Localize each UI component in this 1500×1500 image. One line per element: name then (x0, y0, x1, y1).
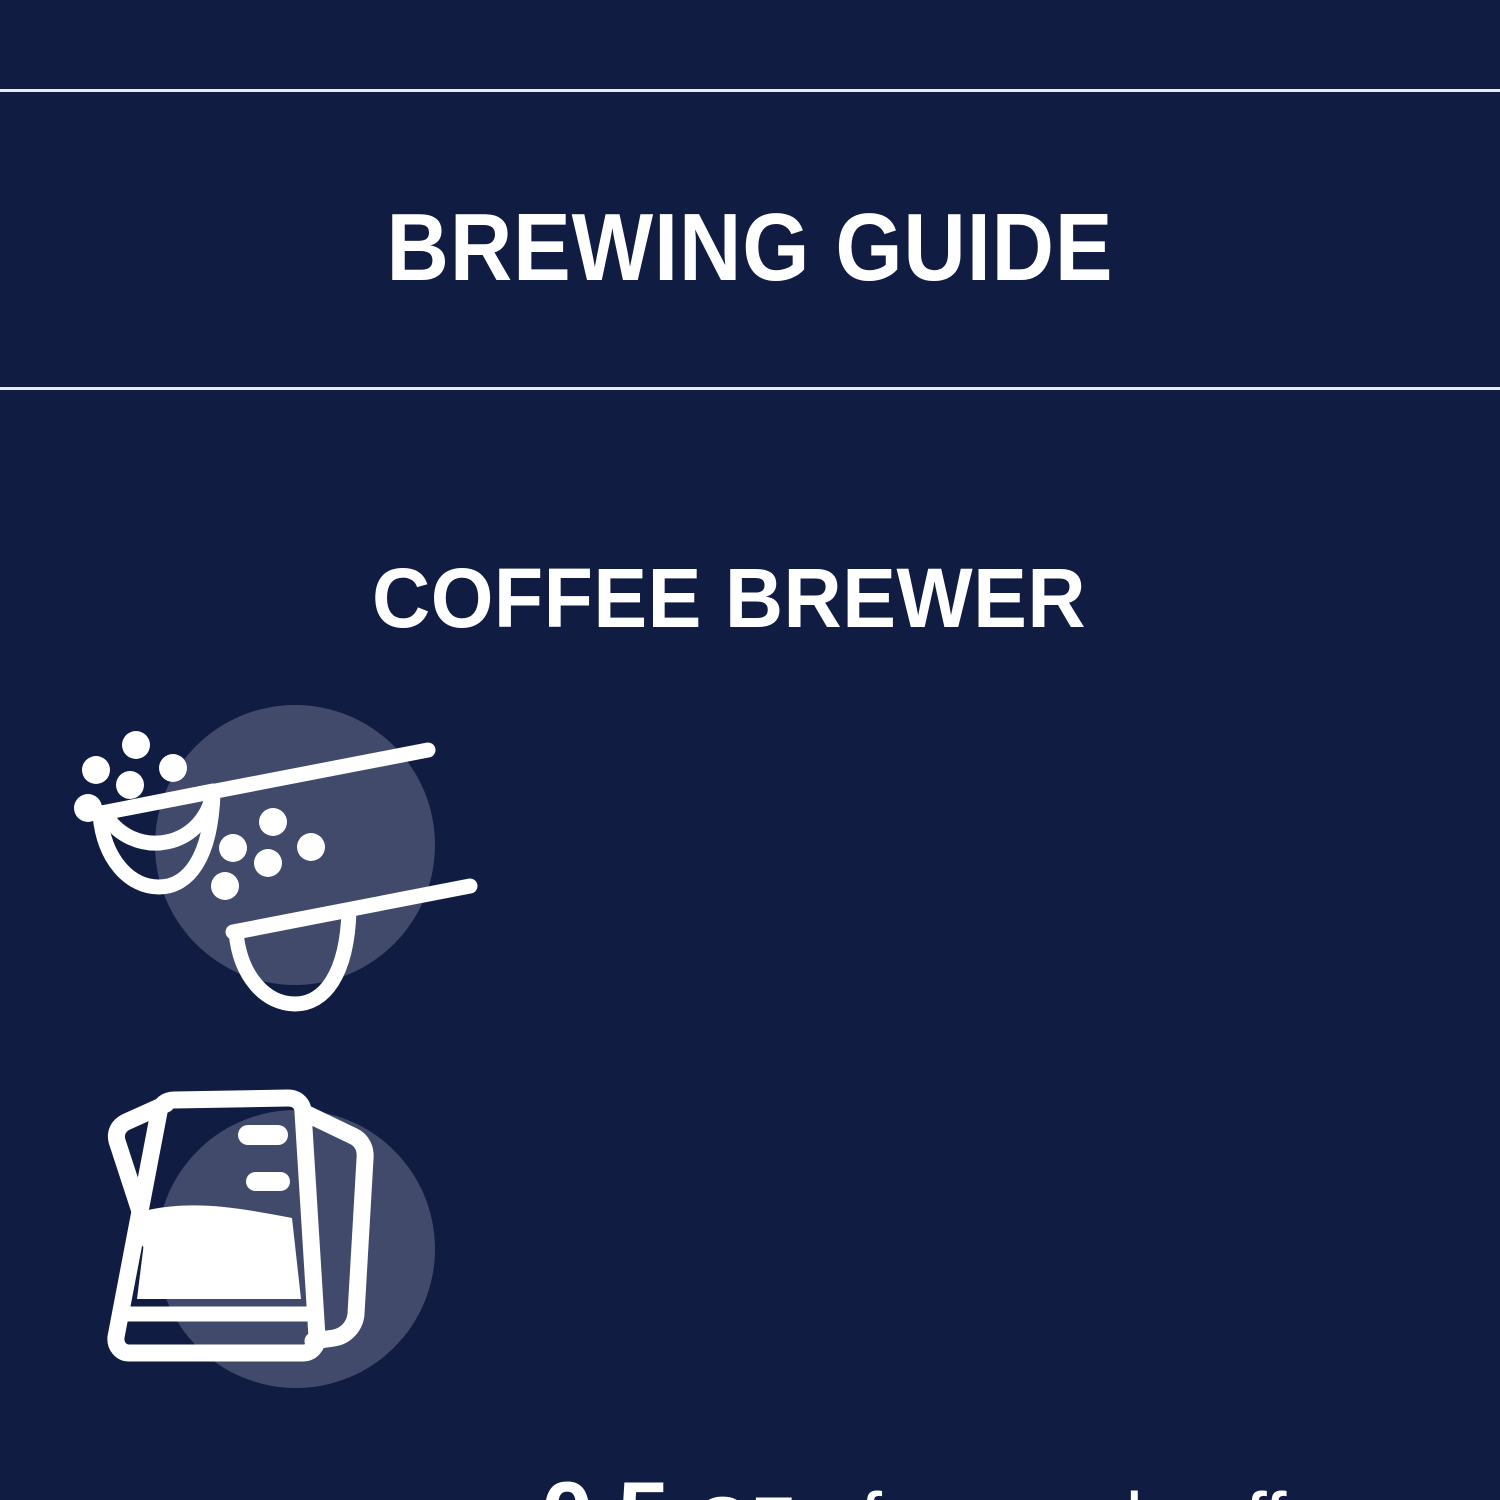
coffee-grounds-dots-lower (211, 808, 325, 900)
section-heading: COFFEE BREWER (372, 552, 1086, 644)
header-top-divider (0, 89, 1500, 92)
water-icon-wrapper (70, 1060, 470, 1390)
brewing-guide-page: BREWING GUIDE COFFEE BREWER (0, 0, 1500, 1500)
level-marker-lower (246, 1172, 290, 1191)
step-row-coffee: 0.5 oz of ground coffee (0, 690, 1500, 1000)
measuring-spoons-with-coffee-grounds-icon (70, 690, 470, 1030)
level-marker-upper (238, 1125, 288, 1145)
coffee-icon-wrapper (70, 690, 470, 1020)
header-bottom-divider (0, 387, 1500, 390)
coffee-description: of ground coffee (817, 1476, 1371, 1500)
page-title: BREWING GUIDE (75, 196, 1425, 300)
water-level-fill (137, 1205, 301, 1299)
coffee-measure-text: 0.5 oz of ground coffee (541, 1476, 1372, 1500)
coffee-amount: 0.5 oz (541, 1462, 796, 1500)
step-row-water: for every 8 oz of water (0, 1060, 1500, 1400)
coffee-carafe-kettle-icon (70, 1060, 470, 1400)
